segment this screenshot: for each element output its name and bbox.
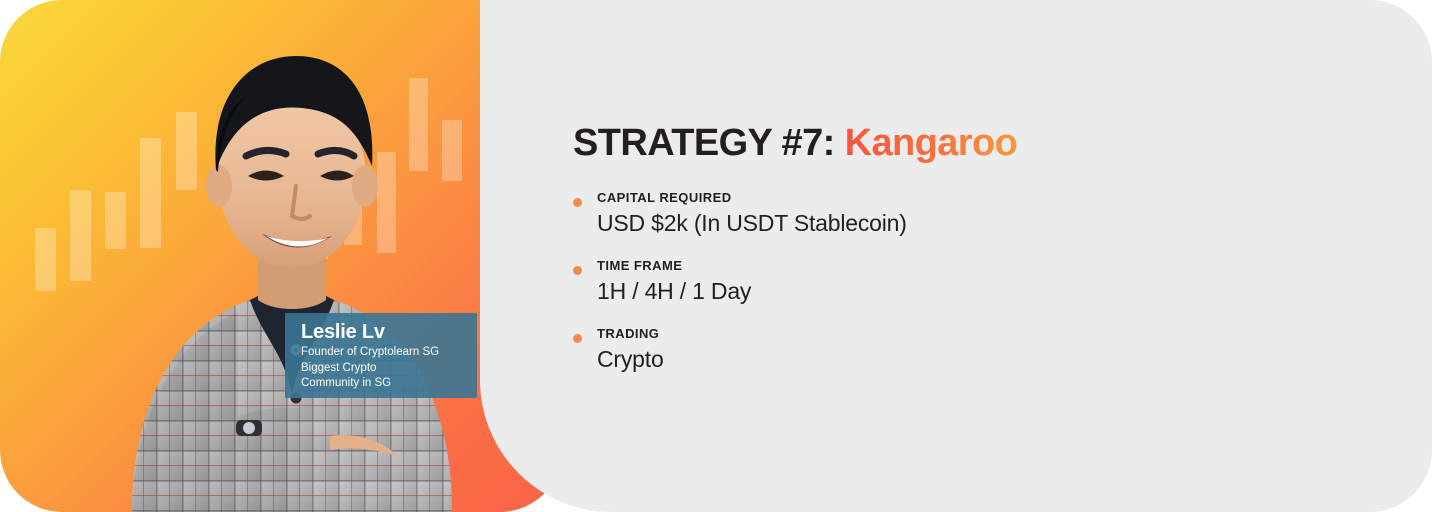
speaker-nameplate: Leslie Lv Founder of Cryptolearn SG Bigg… [285,313,477,398]
candlestick-bar [70,190,91,281]
candlestick-bar [344,173,362,245]
bullet-dot-icon [573,334,582,343]
strategy-info-panel: STRATEGY #7: Kangaroo CAPITAL REQUIREDUS… [480,0,1432,512]
page-title-main: STRATEGY #7: [573,122,835,164]
speaker-role-line-2: Biggest Crypto [301,361,477,376]
spec-label: CAPITAL REQUIRED [597,190,1133,206]
speaker-role-line-1: Founder of Cryptolearn SG [301,345,477,360]
spec-value: USD $2k (In USDT Stablecoin) [597,208,1133,238]
candlestick-bar [442,120,462,181]
candlestick-bar [105,192,126,249]
spec-value: 1H / 4H / 1 Day [597,276,1133,306]
spec-label: TRADING [597,326,1133,342]
page-title-accent: Kangaroo [845,122,1018,164]
speaker-role-line-3: Community in SG [301,376,477,391]
page-title: STRATEGY #7: Kangaroo [573,122,1017,165]
spec-row: TIME FRAME1H / 4H / 1 Day [573,258,1133,306]
spec-label: TIME FRAME [597,258,1133,274]
slide-canvas: Leslie Lv Founder of Cryptolearn SG Bigg… [0,0,1432,512]
candlestick-bar [409,78,428,171]
speaker-name: Leslie Lv [301,321,477,344]
candlestick-bar [377,152,396,253]
spec-row: TRADINGCrypto [573,326,1133,374]
bullet-dot-icon [573,266,582,275]
bullet-dot-icon [573,198,582,207]
candlestick-bar [140,138,161,248]
candlestick-bar [35,228,56,291]
speaker-hero-card: Leslie Lv Founder of Cryptolearn SG Bigg… [0,0,562,512]
candlestick-bar [176,112,197,190]
spec-value: Crypto [597,344,1133,374]
candlestick-bar [308,212,328,259]
strategy-spec-list: CAPITAL REQUIREDUSD $2k (In USDT Stablec… [573,190,1133,374]
spec-row: CAPITAL REQUIREDUSD $2k (In USDT Stablec… [573,190,1133,238]
